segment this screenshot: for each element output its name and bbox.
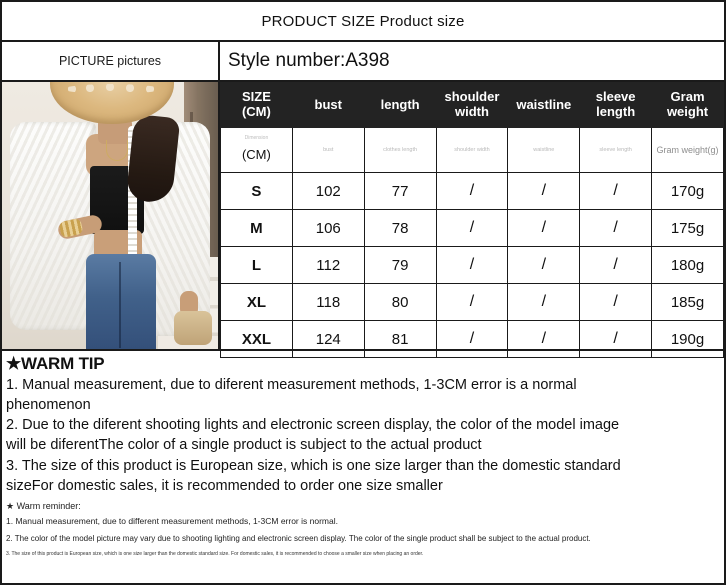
warm-tip-heading: ★WARM TIP [6,354,720,374]
row-s-length: 77 [364,173,436,210]
row-xl-shoulder-width: / [436,284,508,321]
col-header-size-line1: SIZE [242,89,271,104]
size-table-header-row: SIZE (CM) bust length shoulder width [221,83,724,128]
col-header-shoulder-line2: width [455,104,489,119]
row-s-bust: 102 [292,173,364,210]
col-header-sleeve-length: sleeve length [580,83,652,128]
size-table-subheader-row: Dimension (CM) bust clothes length shoul… [221,128,724,173]
subheader-size-faint: Dimension [221,134,292,142]
col-header-size-line2: (CM) [242,104,271,119]
photo-and-table-band: SIZE (CM) bust length shoulder width [2,82,724,351]
col-header-gram-line1: Gram [671,89,705,104]
style-number-cell: Style number:A398 [220,42,724,80]
photo-hat-shell-band [64,84,160,94]
product-size-title-row: PRODUCT SIZE Product size [2,2,724,42]
subheader-length-cell: clothes length [364,128,436,173]
table-row: XL 118 80 / / / 185g [221,284,724,321]
row-l-sleeve-length: / [580,247,652,284]
style-number-text: Style number:A398 [228,50,390,72]
subheader-shoulder-width-cell: shoulder width [436,128,508,173]
row-size-m: M [221,210,293,247]
picture-label-cell: PICTURE pictures [2,42,220,80]
row-size-xl: XL [221,284,293,321]
row-xl-sleeve-length: / [580,284,652,321]
col-header-bust-label: bust [315,97,342,112]
size-table-head: SIZE (CM) bust length shoulder width [221,83,724,128]
row-xl-length: 80 [364,284,436,321]
col-header-waistline-label: waistline [516,97,571,112]
subheader-size-cm: (CM) [221,145,292,166]
col-header-shoulder-line1: shoulder [445,89,500,104]
warm-tip-line-2: 2. Due to the diferent shooting lights a… [6,416,720,435]
row-l-gram-weight: 180g [652,247,724,284]
row-m-bust: 106 [292,210,364,247]
style-row: PICTURE pictures Style number:A398 [2,42,724,82]
col-header-size: SIZE (CM) [221,83,293,128]
row-size-l: L [221,247,293,284]
row-xl-gram-weight: 185g [652,284,724,321]
row-s-shoulder-width: / [436,173,508,210]
row-m-waistline: / [508,210,580,247]
col-header-length-label: length [381,97,420,112]
row-xl-waistline: / [508,284,580,321]
photo-straw-bag [174,311,212,345]
subheader-gram-weight-cell: Gram weight(g) [652,128,724,173]
row-l-length: 79 [364,247,436,284]
row-s-waistline: / [508,173,580,210]
page-title: PRODUCT SIZE Product size [261,13,464,30]
row-s-gram-weight: 170g [652,173,724,210]
warm-tip-line-3: 3. The size of this product is European … [6,457,720,476]
col-header-sleeve-line1: sleeve [596,89,636,104]
row-m-gram-weight: 175g [652,210,724,247]
warm-reminder-item-1: 1. Manual measurement, due to different … [6,516,720,526]
subheader-waistline-cell: waistline [508,128,580,173]
table-row: S 102 77 / / / 170g [221,173,724,210]
row-l-bust: 112 [292,247,364,284]
col-header-sleeve-line2: length [596,104,635,119]
row-xl-bust: 118 [292,284,364,321]
size-table: SIZE (CM) bust length shoulder width [220,82,724,358]
picture-label-text: PICTURE pictures [59,54,161,68]
warm-reminder-heading: ★ Warm reminder: [6,501,720,512]
row-s-sleeve-length: / [580,173,652,210]
row-m-shoulder-width: / [436,210,508,247]
row-l-waistline: / [508,247,580,284]
row-size-s: S [221,173,293,210]
size-chart-sheet: PRODUCT SIZE Product size PICTURE pictur… [0,0,726,585]
col-header-bust: bust [292,83,364,128]
size-table-body: Dimension (CM) bust clothes length shoul… [221,128,724,358]
col-header-waistline: waistline [508,83,580,128]
row-m-length: 78 [364,210,436,247]
subheader-bust-cell: bust [292,128,364,173]
product-photo [2,82,220,349]
warm-reminder-item-2: 2. The color of the model picture may va… [6,534,720,543]
warm-tip-line-2b: will be diferentThe color of a single pr… [6,436,720,455]
photo-necklace [106,140,128,161]
size-table-wrapper: SIZE (CM) bust length shoulder width [220,82,724,349]
subheader-sleeve-length-cell: sleeve length [580,128,652,173]
photo-blue-jeans [86,254,156,349]
warm-tip-line-3b: sizeFor domestic sales, it is recommende… [6,477,720,496]
row-m-sleeve-length: / [580,210,652,247]
col-header-length: length [364,83,436,128]
subheader-size-cell: Dimension (CM) [221,128,293,173]
row-l-shoulder-width: / [436,247,508,284]
col-header-gram-weight: Gram weight [652,83,724,128]
col-header-gram-line2: weight [667,104,708,119]
warm-tip-line-1b: phenomenon [6,396,720,415]
table-row: M 106 78 / / / 175g [221,210,724,247]
table-row: L 112 79 / / / 180g [221,247,724,284]
warm-reminder-item-3: 3. The size of this product is European … [6,551,720,557]
warm-tip-line-1: 1. Manual measurement, due to diferent m… [6,376,720,395]
warm-tip-section: ★WARM TIP 1. Manual measurement, due to … [2,351,724,583]
col-header-shoulder-width: shoulder width [436,83,508,128]
